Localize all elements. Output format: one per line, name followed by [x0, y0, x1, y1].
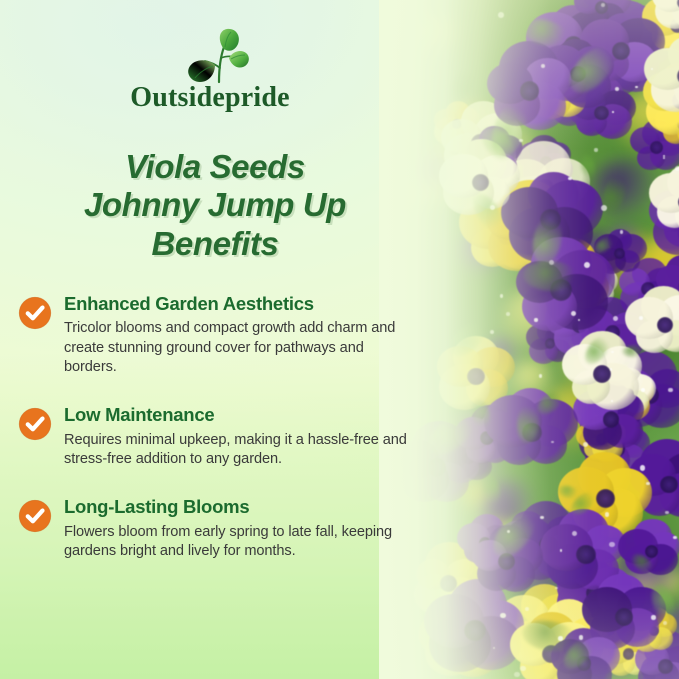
brand-logo[interactable]: Outsidepride [0, 28, 420, 114]
benefit-title: Enhanced Garden Aesthetics [64, 293, 418, 315]
benefit-description: Flowers bloom from early spring to late … [64, 523, 418, 562]
benefit-description: Tricolor blooms and compact growth add c… [64, 319, 418, 377]
list-item: Long-Lasting Blooms Flowers bloom from e… [18, 495, 418, 561]
page-title-line-1: Viola Seeds [26, 148, 404, 186]
benefit-description: Requires minimal upkeep, making it a has… [64, 431, 418, 470]
list-item: Low Maintenance Requires minimal upkeep,… [18, 403, 418, 469]
list-item: Enhanced Garden Aesthetics Tricolor bloo… [18, 292, 418, 377]
photo-left-fade [379, 0, 679, 679]
flower-photo [379, 0, 679, 679]
orange-check-circle-icon [18, 407, 52, 441]
benefit-title: Long-Lasting Blooms [64, 496, 418, 518]
orange-check-circle-icon [18, 296, 52, 330]
infographic-card: Outsidepride Viola Seeds Johnny Jump Up … [0, 0, 679, 679]
brand-name: Outsidepride [0, 82, 420, 114]
page-title-line-2: Johnny Jump Up [26, 186, 404, 224]
three-leaf-sprig-icon [167, 28, 253, 88]
benefits-list: Enhanced Garden Aesthetics Tricolor bloo… [18, 292, 418, 561]
benefit-title: Low Maintenance [64, 404, 418, 426]
page-title-line-3: Benefits [26, 225, 404, 263]
orange-check-circle-icon [18, 499, 52, 533]
page-title: Viola Seeds Johnny Jump Up Benefits [0, 148, 430, 263]
